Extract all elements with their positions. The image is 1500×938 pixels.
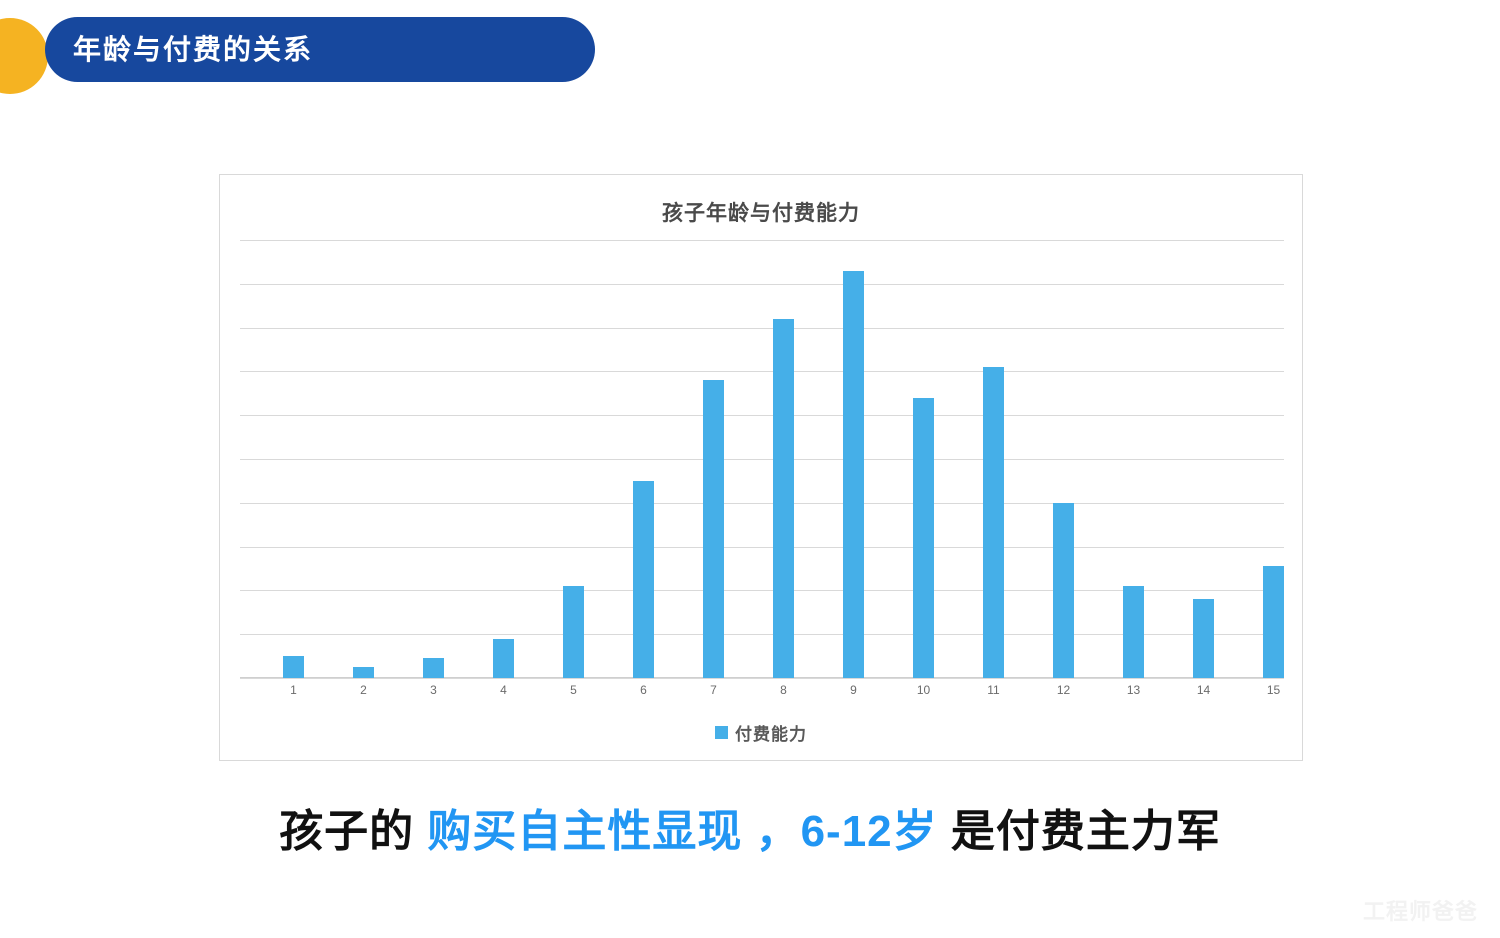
chart-gridline (240, 678, 1284, 679)
slide-title: 年龄与付费的关系 (73, 36, 313, 64)
chart-x-label: 1 (274, 683, 314, 697)
chart-bar (703, 380, 724, 678)
caption-highlight-2: 6-12岁 (801, 807, 938, 856)
chart-x-label: 10 (904, 683, 944, 697)
chart-x-axis-labels: 123456789101112131415 (240, 683, 1284, 707)
chart-legend: 付费能力 (220, 720, 1302, 745)
chart-x-label: 13 (1114, 683, 1154, 697)
chart-bar (633, 481, 654, 678)
chart-x-label: 3 (414, 683, 454, 697)
caption-part-2: 是付费主力军 (938, 807, 1221, 856)
chart-bar (563, 586, 584, 678)
chart-title: 孩子年龄与付费能力 (220, 197, 1302, 227)
chart-x-label: 6 (624, 683, 664, 697)
chart-bar (983, 367, 1004, 678)
chart-bar (773, 319, 794, 678)
chart-bar (423, 658, 444, 678)
chart-bar (283, 656, 304, 678)
legend-label: 付费能力 (735, 720, 807, 745)
chart-x-label: 2 (344, 683, 384, 697)
watermark: 工程师爸爸 (1363, 894, 1478, 926)
slide-header: 年龄与付费的关系 (0, 0, 650, 110)
slide-caption: 孩子的 购买自主性显现 ，6-12岁 是付费主力军 (0, 795, 1500, 859)
accent-circle-decoration (0, 18, 48, 94)
chart-bar (353, 667, 374, 678)
title-pill: 年龄与付费的关系 (45, 17, 595, 82)
chart-bar (913, 398, 934, 678)
chart-x-label: 11 (974, 683, 1014, 697)
chart-x-label: 5 (554, 683, 594, 697)
caption-part-1: 孩子的 (279, 807, 427, 856)
chart-bars (240, 240, 1284, 678)
chart-bar (1123, 586, 1144, 678)
legend-swatch-icon (715, 726, 728, 739)
chart-x-label: 4 (484, 683, 524, 697)
chart-x-label: 8 (764, 683, 804, 697)
chart-bar (1263, 566, 1284, 678)
chart-x-label: 7 (694, 683, 734, 697)
chart-x-label: 15 (1254, 683, 1294, 697)
chart-bar (843, 271, 864, 678)
chart-bar (1053, 503, 1074, 678)
chart-bar (1193, 599, 1214, 678)
chart-panel: 孩子年龄与付费能力 123456789101112131415 付费能力 (219, 174, 1303, 761)
caption-highlight-1: 购买自主性显现 ， (427, 807, 800, 856)
chart-x-label: 12 (1044, 683, 1084, 697)
chart-plot-area (240, 240, 1284, 678)
chart-bar (493, 639, 514, 678)
slide-root: 年龄与付费的关系 孩子年龄与付费能力 123456789101112131415… (0, 0, 1500, 938)
chart-x-label: 14 (1184, 683, 1224, 697)
chart-x-label: 9 (834, 683, 874, 697)
